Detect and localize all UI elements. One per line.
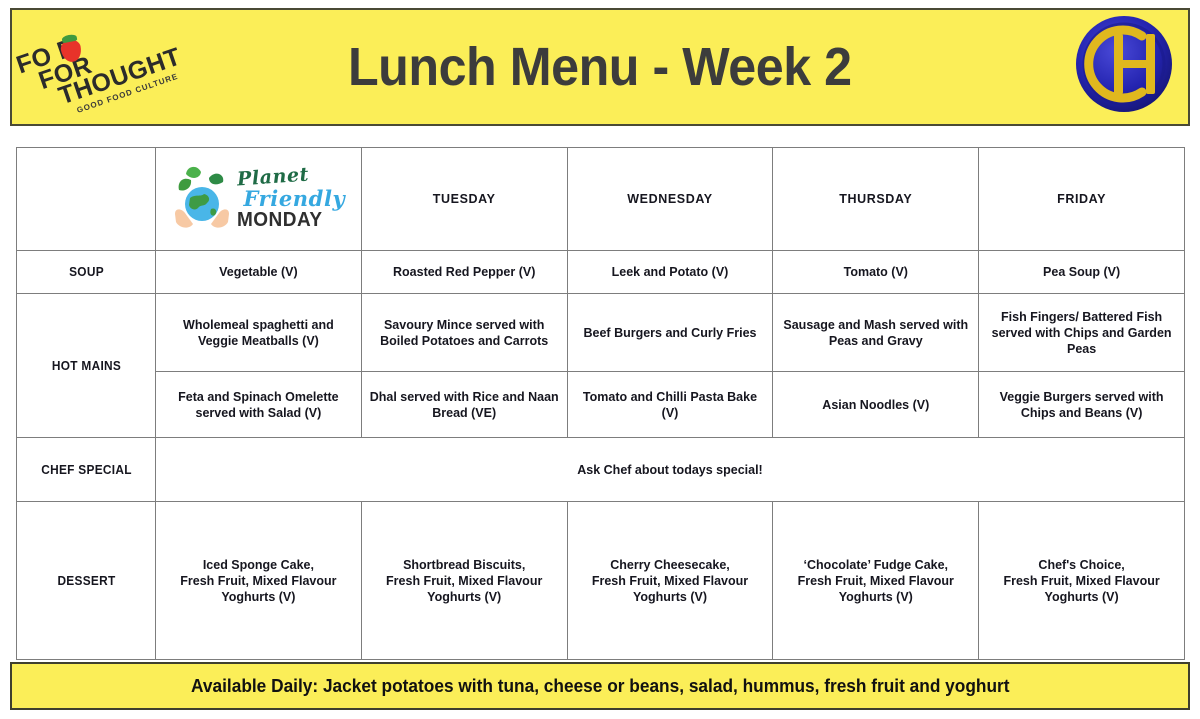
- cell-dessert-thursday: ‘Chocolate’ Fudge Cake,Fresh Fruit, Mixe…: [773, 502, 979, 660]
- cell-soup-tuesday: Roasted Red Pepper (V): [361, 251, 567, 294]
- day-header-thursday[interactable]: THURSDAY: [773, 148, 979, 251]
- lunch-menu-page: Lunch Menu - Week 2 FO D FOR THOUGHT GOO…: [0, 0, 1200, 719]
- school-crest-logo: [1072, 12, 1176, 116]
- day-header-monday[interactable]: Planet Friendly MONDAY: [156, 148, 362, 251]
- corner-cell: [20, 148, 152, 251]
- food-for-thought-logo: FO D FOR THOUGHT GOOD FOOD CULTURE: [18, 14, 178, 120]
- table-row-dessert: DESSERT Iced Sponge Cake,Fresh Fruit, Mi…: [17, 502, 1185, 660]
- weekly-menu-table: Planet Friendly MONDAY TUESDAY WEDNESDAY…: [16, 147, 1185, 660]
- cell-soup-wednesday: Leek and Potato (V): [567, 251, 773, 294]
- cell-mains1-wednesday: Beef Burgers and Curly Fries: [567, 294, 773, 372]
- page-title: Lunch Menu - Week 2: [348, 36, 852, 98]
- cell-soup-friday: Pea Soup (V): [979, 251, 1185, 294]
- cell-mains2-friday: Veggie Burgers served with Chips and Bea…: [979, 372, 1185, 438]
- day-header-tuesday[interactable]: TUESDAY: [361, 148, 567, 251]
- available-daily-text: Available Daily: Jacket potatoes with tu…: [191, 676, 1009, 697]
- cell-soup-thursday: Tomato (V): [773, 251, 979, 294]
- row-label-hot-mains: HOT MAINS: [20, 294, 152, 438]
- cell-dessert-tuesday: Shortbread Biscuits,Fresh Fruit, Mixed F…: [361, 502, 567, 660]
- planet-friendly-monday-logo: Planet Friendly MONDAY: [162, 151, 355, 247]
- cell-mains2-thursday: Asian Noodles (V): [773, 372, 979, 438]
- hands-holding-globe-icon: [171, 164, 233, 234]
- cell-soup-monday: Vegetable (V): [156, 251, 362, 294]
- cell-dessert-friday: Chef's Choice,Fresh Fruit, Mixed Flavour…: [979, 502, 1185, 660]
- day-header-friday[interactable]: FRIDAY: [979, 148, 1185, 251]
- footer-banner: Available Daily: Jacket potatoes with tu…: [10, 662, 1190, 710]
- table-row-chef-special: CHEF SPECIAL Ask Chef about todays speci…: [17, 438, 1185, 502]
- table-header-row: Planet Friendly MONDAY TUESDAY WEDNESDAY…: [17, 148, 1185, 251]
- cell-mains1-thursday: Sausage and Mash served with Peas and Gr…: [773, 294, 979, 372]
- cell-mains1-tuesday: Savoury Mince served with Boiled Potatoe…: [361, 294, 567, 372]
- cell-chef-special-merged: Ask Chef about todays special!: [156, 438, 1185, 502]
- row-label-soup: SOUP: [20, 251, 152, 294]
- cell-dessert-wednesday: Cherry Cheesecake,Fresh Fruit, Mixed Fla…: [567, 502, 773, 660]
- pfm-word-friendly: Friendly: [243, 188, 345, 209]
- table-row-hot-mains-2: Feta and Spinach Omelette served with Sa…: [17, 372, 1185, 438]
- cell-mains2-monday: Feta and Spinach Omelette served with Sa…: [156, 372, 362, 438]
- day-header-wednesday[interactable]: WEDNESDAY: [567, 148, 773, 251]
- cell-mains1-monday: Wholemeal spaghetti and Veggie Meatballs…: [156, 294, 362, 372]
- pfm-word-planet: Planet: [237, 166, 310, 190]
- table-row-soup: SOUP Vegetable (V) Roasted Red Pepper (V…: [17, 251, 1185, 294]
- row-label-dessert: DESSERT: [20, 502, 152, 660]
- row-label-chef-special: CHEF SPECIAL: [20, 438, 152, 502]
- cell-mains1-friday: Fish Fingers/ Battered Fish served with …: [979, 294, 1185, 372]
- cell-mains2-wednesday: Tomato and Chilli Pasta Bake (V): [567, 372, 773, 438]
- header-banner: Lunch Menu - Week 2: [10, 8, 1190, 126]
- cell-dessert-monday: Iced Sponge Cake,Fresh Fruit, Mixed Flav…: [156, 502, 362, 660]
- table-row-hot-mains-1: HOT MAINS Wholemeal spaghetti and Veggie…: [17, 294, 1185, 372]
- pfm-word-monday: MONDAY: [237, 210, 323, 230]
- cell-mains2-tuesday: Dhal served with Rice and Naan Bread (VE…: [361, 372, 567, 438]
